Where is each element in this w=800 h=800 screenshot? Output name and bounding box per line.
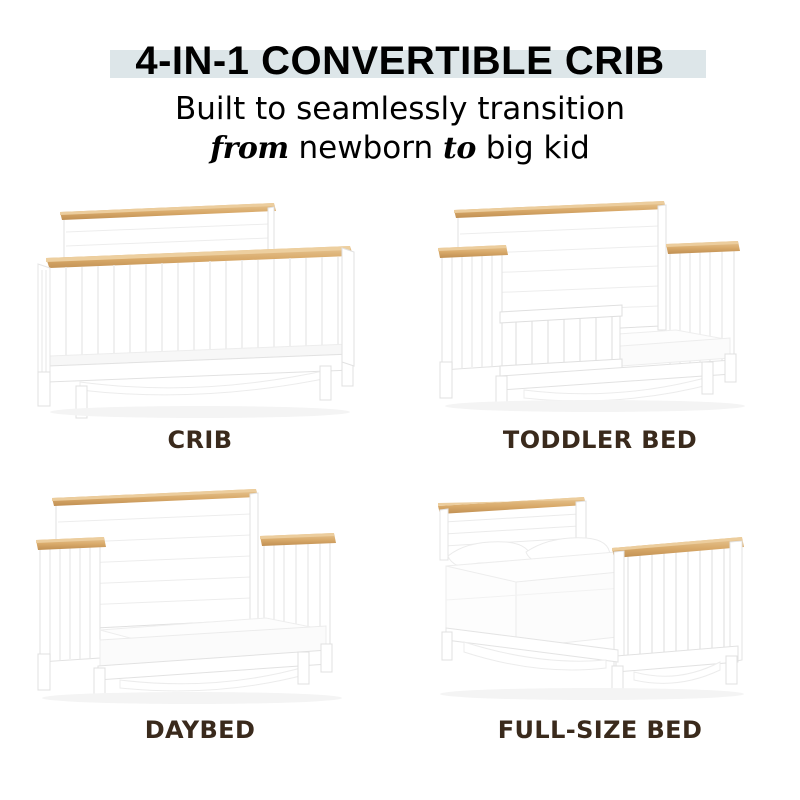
config-cell-toddler: TODDLER BED [420, 190, 780, 480]
daybed-illustration [20, 480, 380, 720]
label-fullsize-bed: FULL-SIZE BED [420, 716, 780, 744]
toddler-bed-illustration [420, 190, 780, 430]
label-toddler-bed: TODDLER BED [420, 426, 780, 454]
config-cell-fullsize: FULL-SIZE BED [420, 480, 780, 770]
header: 4-IN-1 CONVERTIBLE CRIB Built to seamles… [0, 0, 800, 180]
label-crib: CRIB [20, 426, 380, 454]
subtitle-line-2: from newborn to big kid [0, 131, 800, 165]
title-wrap: 4-IN-1 CONVERTIBLE CRIB [0, 36, 800, 86]
label-daybed: DAYBED [20, 716, 380, 744]
subtitle-script-from: from [210, 131, 288, 166]
subtitle-word-newborn: newborn [299, 130, 434, 166]
fullsize-bed-illustration [420, 480, 780, 720]
page-title: 4-IN-1 CONVERTIBLE CRIB [135, 41, 664, 81]
subtitle-word-bigkid: big kid [486, 130, 590, 166]
config-cell-crib: CRIB [20, 190, 380, 480]
subtitle-line-1: Built to seamlessly transition [0, 92, 800, 126]
config-cell-daybed: DAYBED [20, 480, 380, 770]
subtitle-script-to: to [443, 131, 476, 166]
crib-illustration [20, 190, 380, 430]
